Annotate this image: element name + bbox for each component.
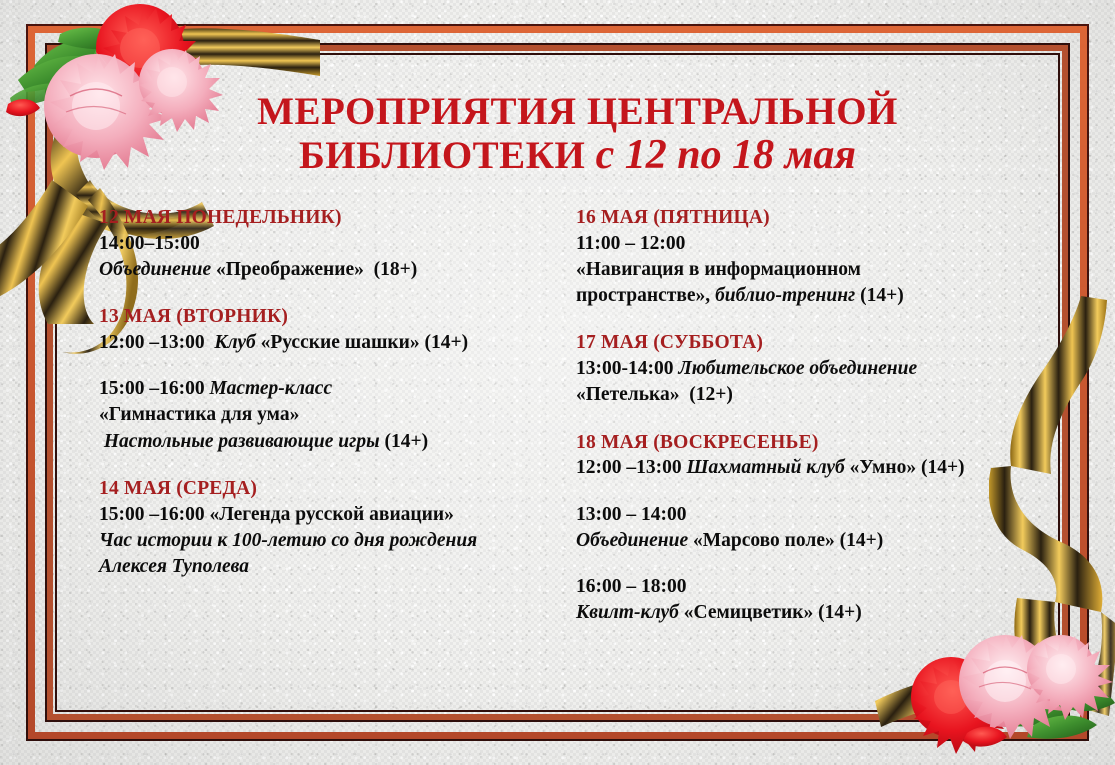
event-line: 12:00 –13:00 Шахматный клуб «Умно» (14+) xyxy=(576,455,1046,481)
event-line: Объединение «Марсово поле» (14+) xyxy=(576,528,1046,554)
day-block-13-may: 13 МАЯ (ВТОРНИК) 12:00 –13:00 Клуб «Русс… xyxy=(99,305,569,454)
event-age: (14+) xyxy=(860,285,904,306)
event-line: Алексея Туполева xyxy=(99,554,569,580)
event-line: 15:00 –16:00 «Легенда русской авиации» xyxy=(99,502,569,528)
day-heading-18-may: 18 МАЯ (ВОСКРЕСЕНЬЕ) xyxy=(576,431,1046,456)
day-heading-13-may: 13 МАЯ (ВТОРНИК) xyxy=(99,305,569,330)
event-age: (14+) xyxy=(818,602,862,623)
day-heading-17-may: 17 МАЯ (СУББОТА) xyxy=(576,331,1046,356)
event-time: 11:00 – 12:00 xyxy=(576,233,685,254)
event-age: (18+) xyxy=(374,259,418,280)
event-line: «Петелька» (12+) xyxy=(576,382,1046,408)
event-line: Час истории к 100-летию со дня рождения xyxy=(99,528,569,554)
event-title-cont: пространстве», xyxy=(576,285,710,306)
event-time: 13:00 – 14:00 xyxy=(576,504,687,525)
event-age: (14+) xyxy=(425,332,469,353)
spacer xyxy=(576,309,1046,331)
schedule-column-left: 12 МАЯ ПОНЕДЕЛЬНИК) 14:00–15:00 Объедине… xyxy=(99,206,569,580)
event-age: (14+) xyxy=(921,457,965,478)
day-heading-14-may: 14 МАЯ (СРЕДА) xyxy=(99,477,569,502)
spacer xyxy=(99,356,569,376)
poster: МЕРОПРИЯТИЯ ЦЕНТРАЛЬНОЙ БИБЛИОТЕКИ с 12 … xyxy=(0,0,1115,765)
schedule-column-right: 16 МАЯ (ПЯТНИЦА) 11:00 – 12:00 «Навигаци… xyxy=(576,206,1046,626)
event-line: 12:00 –13:00 Клуб «Русские шашки» (14+) xyxy=(99,330,569,356)
poster-content: МЕРОПРИЯТИЯ ЦЕНТРАЛЬНОЙ БИБЛИОТЕКИ с 12 … xyxy=(0,0,1115,765)
event-subtitle: Час истории к 100-летию со дня рождения xyxy=(99,530,477,551)
title-line-2-bold: БИБЛИОТЕКИ xyxy=(299,134,585,177)
event-line: 14:00–15:00 xyxy=(99,231,569,257)
event-kind: Шахматный клуб xyxy=(687,457,845,478)
day-heading-12-may: 12 МАЯ ПОНЕДЕЛЬНИК) xyxy=(99,206,569,231)
event-title: «Навигация в информационном xyxy=(576,259,861,280)
title-line-2-italic: с 12 по 18 мая xyxy=(596,132,856,178)
event-kind: Объединение xyxy=(576,530,688,551)
event-kind: Мастер-класс xyxy=(210,378,333,399)
event-line: 13:00-14:00 Любительское объединение xyxy=(576,356,1046,382)
event-kind: Квилт-клуб xyxy=(576,602,679,623)
spacer xyxy=(576,482,1046,502)
event-time: 12:00 –13:00 xyxy=(576,457,682,478)
event-line: 11:00 – 12:00 xyxy=(576,231,1046,257)
event-line: Объединение «Преображение» (18+) xyxy=(99,257,569,283)
event-subtitle-cont: Алексея Туполева xyxy=(99,556,249,577)
event-line: 15:00 –16:00 Мастер-класс xyxy=(99,376,569,402)
event-age: (14+) xyxy=(840,530,884,551)
day-block-12-may: 12 МАЯ ПОНЕДЕЛЬНИК) 14:00–15:00 Объедине… xyxy=(99,206,569,283)
day-block-16-may: 16 МАЯ (ПЯТНИЦА) 11:00 – 12:00 «Навигаци… xyxy=(576,206,1046,309)
title-line-2: БИБЛИОТЕКИ с 12 по 18 мая xyxy=(120,134,1035,177)
event-kind: Клуб xyxy=(214,332,255,353)
event-time: 15:00 –16:00 xyxy=(99,378,205,399)
event-kind: библио-тренинг xyxy=(715,285,855,306)
day-block-18-may: 18 МАЯ (ВОСКРЕСЕНЬЕ) 12:00 –13:00 Шахмат… xyxy=(576,431,1046,627)
event-title: «Петелька» xyxy=(576,384,680,405)
event-line: Настольные развивающие игры (14+) xyxy=(99,429,569,455)
spacer xyxy=(99,283,569,305)
event-kind: Любительское объединение xyxy=(678,358,917,379)
event-time: 14:00–15:00 xyxy=(99,233,200,254)
event-line: 13:00 – 14:00 xyxy=(576,502,1046,528)
event-title: «Гимнастика для ума» xyxy=(99,404,299,425)
event-line: Квилт-клуб «Семицветик» (14+) xyxy=(576,600,1046,626)
event-time: 15:00 –16:00 xyxy=(99,504,205,525)
day-heading-16-may: 16 МАЯ (ПЯТНИЦА) xyxy=(576,206,1046,231)
event-title: «Русские шашки» xyxy=(261,332,420,353)
title-line-1: МЕРОПРИЯТИЯ ЦЕНТРАЛЬНОЙ xyxy=(120,92,1035,132)
event-title: «Марсово поле» xyxy=(693,530,835,551)
event-title: «Семицветик» xyxy=(684,602,813,623)
event-title: «Легенда русской авиации» xyxy=(210,504,454,525)
event-time: 13:00-14:00 xyxy=(576,358,673,379)
event-subtitle: Настольные развивающие игры xyxy=(104,431,380,452)
event-line: пространстве», библио-тренинг (14+) xyxy=(576,283,1046,309)
event-time: 12:00 –13:00 xyxy=(99,332,205,353)
event-line: 16:00 – 18:00 xyxy=(576,574,1046,600)
event-time: 16:00 – 18:00 xyxy=(576,576,687,597)
event-age: (12+) xyxy=(689,384,733,405)
event-line: «Гимнастика для ума» xyxy=(99,402,569,428)
day-block-17-may: 17 МАЯ (СУББОТА) 13:00-14:00 Любительско… xyxy=(576,331,1046,408)
page-title: МЕРОПРИЯТИЯ ЦЕНТРАЛЬНОЙ БИБЛИОТЕКИ с 12 … xyxy=(120,92,1035,177)
spacer xyxy=(576,409,1046,431)
spacer xyxy=(99,455,569,477)
event-line: «Навигация в информационном xyxy=(576,257,1046,283)
event-title: «Умно» xyxy=(850,457,916,478)
event-kind: Объединение xyxy=(99,259,211,280)
day-block-14-may: 14 МАЯ (СРЕДА) 15:00 –16:00 «Легенда рус… xyxy=(99,477,569,580)
spacer xyxy=(576,554,1046,574)
event-age: (14+) xyxy=(384,431,428,452)
event-title: «Преображение» xyxy=(216,259,364,280)
